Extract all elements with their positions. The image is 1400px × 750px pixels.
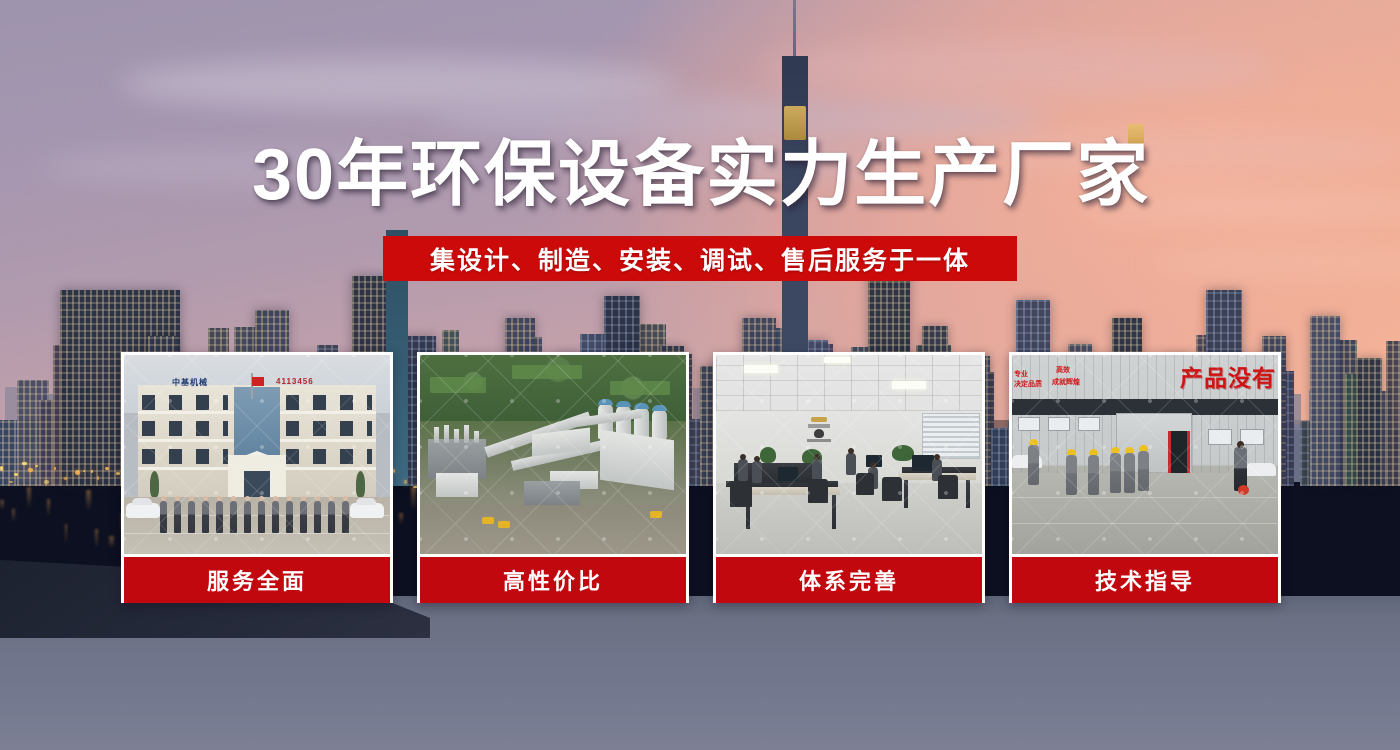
card-photo-factory: 产品没有 专业 决定品质 高效 成就辉煌 [1012, 355, 1278, 554]
card-caption: 高性价比 [420, 557, 686, 603]
card-photo-building: 中基机械 4113456 [124, 355, 390, 554]
banner-stage: 30年环保设备实力生产厂家 集设计、制造、安装、调试、售后服务于一体 [0, 0, 1400, 750]
factory-slogan-c: 高效 [1056, 367, 1070, 375]
factory-sign-text: 产品没有 [1180, 359, 1276, 393]
feature-card-row: 中基机械 4113456 [121, 352, 1281, 603]
subtitle-text: 集设计、制造、安装、调试、售后服务于一体 [430, 241, 970, 277]
page-title: 30年环保设备实力生产厂家 [252, 129, 1152, 221]
card-caption: 技术指导 [1012, 557, 1278, 603]
feature-card[interactable]: 体系完善 [713, 352, 985, 603]
feature-card[interactable]: 中基机械 4113456 [121, 352, 393, 603]
subtitle-bar: 集设计、制造、安装、调试、售后服务于一体 [383, 236, 1017, 281]
card-caption: 服务全面 [124, 557, 390, 603]
building-sign-text: 中基机械 [172, 377, 208, 388]
factory-slogan-a: 专业 [1014, 371, 1028, 379]
factory-slogan-d: 成就辉煌 [1052, 379, 1080, 387]
feature-card[interactable]: 高性价比 [417, 352, 689, 603]
card-caption: 体系完善 [716, 557, 982, 603]
card-photo-office [716, 355, 982, 554]
building-phone-text: 4113456 [276, 377, 314, 386]
feature-card[interactable]: 产品没有 专业 决定品质 高效 成就辉煌 [1009, 352, 1281, 603]
factory-slogan-b: 决定品质 [1014, 381, 1042, 389]
card-photo-plant [420, 355, 686, 554]
